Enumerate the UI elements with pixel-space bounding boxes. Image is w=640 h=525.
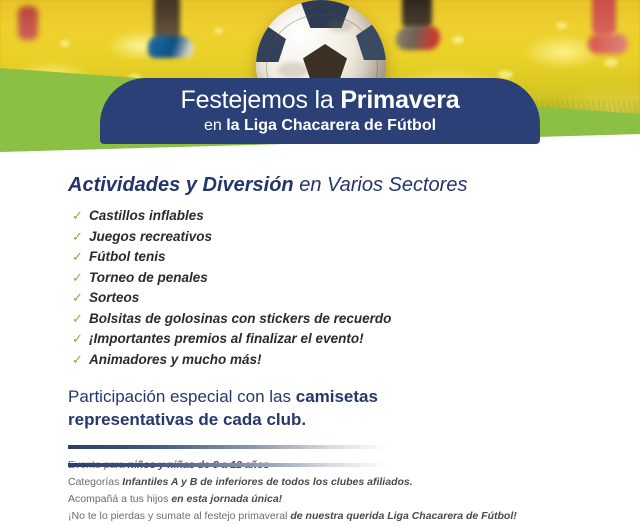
banner-title-line2: en la Liga Chacarera de Fútbol [204,118,436,134]
list-item: ✓ Sorteos [72,288,640,309]
bokeh-speck [214,28,223,34]
footer-line-regular: Categorías [68,476,122,488]
footer-line: Categorías Infantiles A y B de inferiore… [68,474,640,491]
player-leg [592,0,616,36]
list-item: ✓ Fútbol tenis [72,247,640,268]
ball-scuff [278,62,308,78]
footer-line: Acompañá a tus hijos en esta jornada úni… [68,491,640,508]
check-icon: ✓ [72,288,89,308]
list-item: ✓ Animadores y mucho más! [72,350,640,371]
check-icon: ✓ [72,268,89,288]
list-item-label: ¡Importantes premios al finalizar el eve… [89,329,364,350]
list-item: ✓ ¡Importantes premios al finalizar el e… [72,329,640,350]
check-icon: ✓ [72,227,89,247]
list-item: ✓ Bolsitas de golosinas con stickers de … [72,309,640,330]
list-item: ✓ Juegos recreativos [72,227,640,248]
footer-line-regular: ¡No te lo pierdas y sumate al festejo pr… [68,510,290,522]
check-icon: ✓ [72,350,89,370]
banner-title-light: Festejemos la [181,86,341,114]
check-icon: ✓ [72,329,89,349]
special-note: Participación especial con las camisetas… [68,386,508,431]
list-item: ✓ Torneo de penales [72,268,640,289]
check-icon: ✓ [72,206,89,226]
list-item: ✓ Castillos inflables [72,206,640,227]
footer-line-bold: de nuestra querida Liga Chacarera de Fút… [290,510,516,522]
banner-subtitle-bold: la Liga Chacarera de Fútbol [226,117,436,134]
banner-title-bold: Primavera [340,86,459,114]
footer-line: ¡No te lo pierdas y sumate al festejo pr… [68,508,640,525]
footer-details: Evento para niños y niñas de 8 a 12 años… [68,457,640,525]
player-cleat-blue [148,36,194,58]
divider-bar-bottom [68,463,388,467]
activities-list: ✓ Castillos inflables ✓ Juegos recreativ… [72,206,640,370]
list-item-label: Sorteos [89,288,139,309]
bokeh-speck [60,40,70,47]
section-heading-light: en Varios Sectores [294,174,468,196]
check-icon: ✓ [72,247,89,267]
bokeh-speck [556,22,567,29]
list-item-label: Torneo de penales [89,268,208,289]
bokeh-speck [604,58,618,67]
list-item-label: Juegos recreativos [89,227,212,248]
divider-bar [68,445,388,449]
footer-line-regular: Acompañá a tus hijos [68,493,171,505]
player-cleat-red [396,26,440,50]
ball-scuff [328,20,352,32]
list-item-label: Castillos inflables [89,206,204,227]
banner-title-line1: Festejemos la Primavera [181,88,460,113]
flyer-body: Actividades y Diversión en Varios Sector… [0,152,640,525]
player-leg [18,6,38,40]
player-cleat-pink [588,34,628,54]
list-item-label: Animadores y mucho más! [89,350,262,371]
list-item-label: Bolsitas de golosinas con stickers de re… [89,309,391,330]
list-item-label: Fútbol tenis [89,247,166,268]
special-note-regular: Participación especial con las [68,387,296,406]
section-heading-bold: Actividades y Diversión [68,174,294,196]
bokeh-speck [452,36,464,44]
banner-subtitle-light: en [204,117,226,134]
footer-line-bold: Infantiles A y B de inferiores de todos … [122,476,412,488]
check-icon: ✓ [72,309,89,329]
section-heading: Actividades y Diversión en Varios Sector… [68,174,640,197]
footer-line-bold: en esta jornada única! [171,493,282,505]
title-banner: Festejemos la Primavera en la Liga Chaca… [100,78,540,144]
